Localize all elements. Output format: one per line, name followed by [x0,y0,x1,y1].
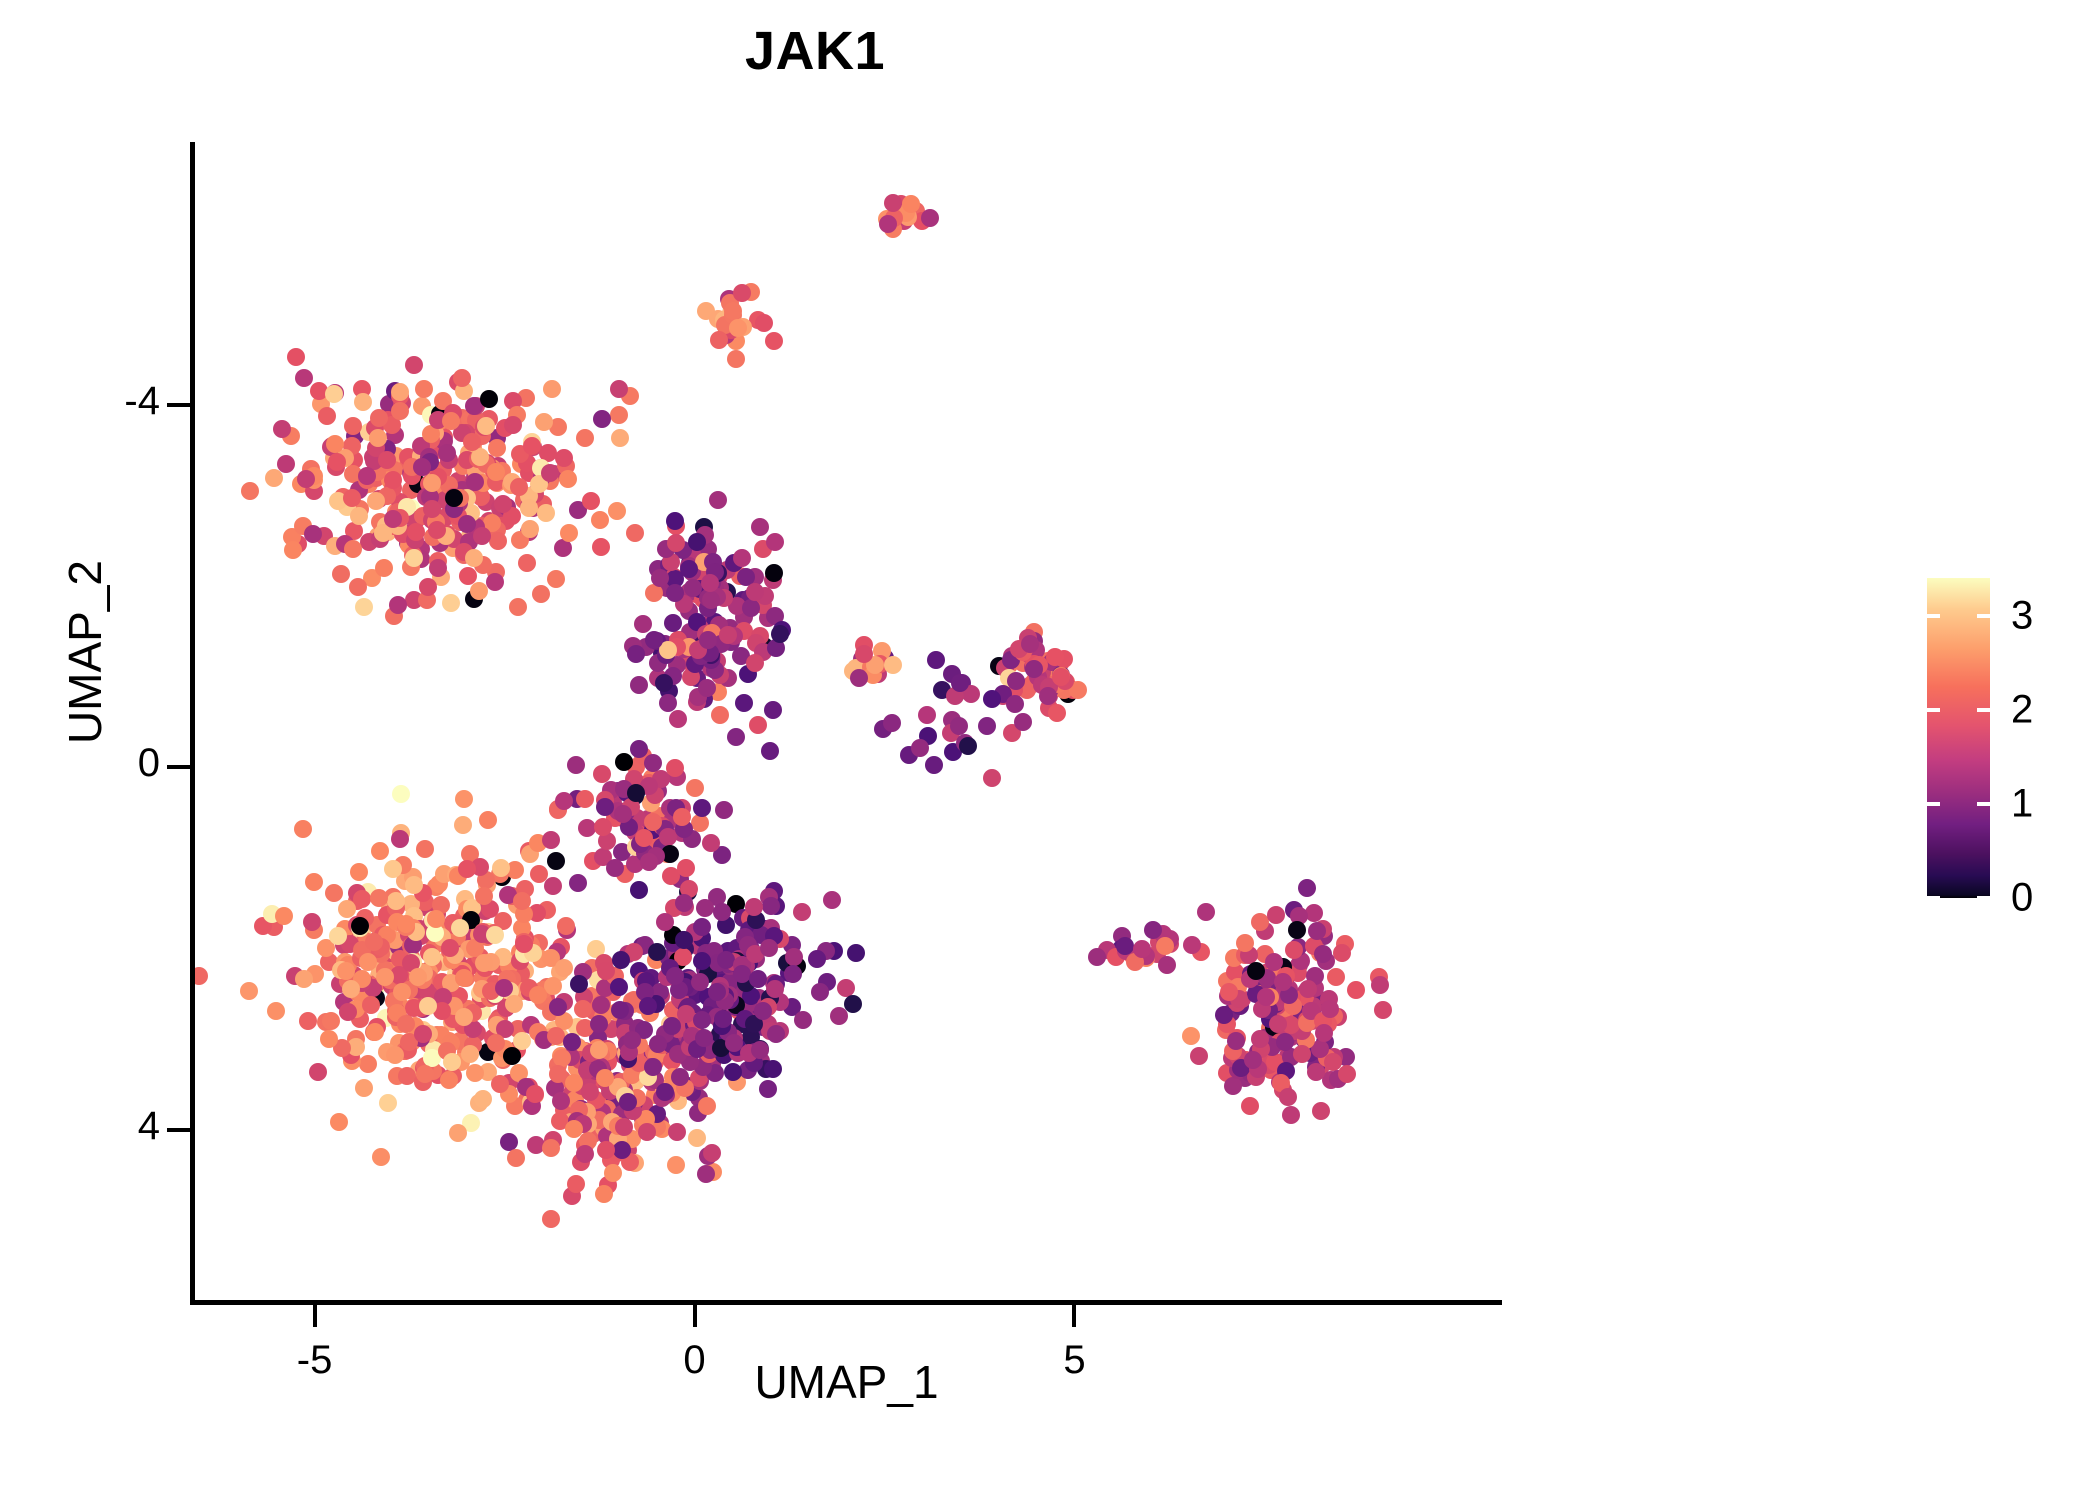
colorbar-tick-mark [1977,896,1990,900]
scatter-point [811,983,829,1001]
scatter-point [626,524,644,542]
scatter-point [699,631,717,649]
scatter-point [504,416,522,434]
scatter-point [711,706,729,724]
scatter-point [537,504,555,522]
scatter-point [771,625,789,643]
scatter-point [277,455,295,473]
scatter-point [567,756,585,774]
scatter-point [1241,1097,1259,1115]
scatter-point [793,903,811,921]
scatter-point [634,615,652,633]
scatter-point [489,532,507,550]
scatter-point [1338,1065,1356,1083]
scatter-point [549,1065,567,1083]
colorbar-tick-label: 2 [2011,687,2033,732]
scatter-point [884,656,902,674]
scatter-point [413,458,431,476]
x-tick-mark [1072,1303,1076,1327]
colorbar-gradient [1927,578,1990,898]
scatter-point [1244,1051,1262,1069]
scatter-point [767,1025,785,1043]
scatter-point [295,970,313,988]
scatter-point [677,859,695,877]
scatter-point [597,1141,615,1159]
scatter-point [1220,983,1238,1001]
scatter-point [359,953,377,971]
scatter-point [1282,1106,1300,1124]
scatter-point [698,1097,716,1115]
scatter-point [710,331,728,349]
scatter-point [441,939,459,957]
scatter-point [543,380,561,398]
scatter-point [1007,672,1025,690]
scatter-point [1279,1088,1297,1106]
scatter-point [365,933,383,951]
scatter-point [745,898,763,916]
scatter-point [442,412,460,430]
scatter-point [384,860,402,878]
scatter-point [486,926,504,944]
scatter-point [1299,980,1317,998]
scatter-point [455,790,473,808]
scatter-point [1276,1033,1294,1051]
scatter-point [766,533,784,551]
scatter-point [299,1012,317,1030]
scatter-point [761,742,779,760]
scatter-point [480,390,498,408]
scatter-point [471,448,489,466]
scatter-point [593,410,611,428]
scatter-point [597,962,615,980]
scatter-point [443,1053,461,1071]
scatter-point [667,1156,685,1174]
scatter-point [656,1083,674,1101]
scatter-point [518,554,536,572]
scatter-point [978,717,996,735]
scatter-point [1298,879,1316,897]
scatter-point [640,853,658,871]
scatter-point [405,356,423,374]
y-tick-label: 4 [60,1104,160,1149]
scatter-point [326,435,344,453]
scatter-point [344,417,362,435]
scatter-point [1088,948,1106,966]
scatter-point [1347,981,1365,999]
scatter-point [295,369,313,387]
x-axis-title: UMAP_1 [193,1355,1500,1409]
scatter-point [507,1149,525,1167]
scatter-point [565,1120,583,1138]
scatter-point [719,626,737,644]
scatter-point [509,598,527,616]
scatter-point [592,996,610,1014]
scatter-point [638,1123,656,1141]
scatter-point [837,979,855,997]
scatter-point [549,998,567,1016]
scatter-point [1374,1001,1392,1019]
scatter-point [608,502,626,520]
scatter-point [350,507,368,525]
scatter-point [666,512,684,530]
scatter-point [344,540,362,558]
scatter-point [733,965,751,983]
scatter-point [596,798,614,816]
scatter-point [423,474,441,492]
scatter-point [925,756,943,774]
colorbar-tick-mark [1977,708,1990,712]
scatter-point [591,511,609,529]
scatter-point [355,1079,373,1097]
scatter-point [267,1002,285,1020]
scatter-point [746,654,764,672]
scatter-point [844,995,862,1013]
scatter-point [440,1071,458,1089]
scatter-point [1048,704,1066,722]
scatter-point [667,534,685,552]
scatter-point [959,737,977,755]
scatter-point [473,527,491,545]
colorbar-tick-label: 0 [2011,876,2033,921]
scatter-point [697,1165,715,1183]
scatter-point [455,1008,473,1026]
scatter-point [488,439,506,457]
scatter-point [879,215,897,233]
scatter-point [362,996,380,1014]
scatter-point [630,676,648,694]
scatter-point [754,1002,772,1020]
scatter-point [391,830,409,848]
scatter-point [594,818,612,836]
scatter-point [474,1090,492,1108]
scatter-point [486,573,504,591]
scatter-point [427,910,445,928]
scatter-point [666,967,684,985]
scatter-point [1333,944,1351,962]
scatter-point [593,765,611,783]
scatter-point [555,792,573,810]
scatter-point [762,897,780,915]
scatter-point [428,521,446,539]
scatter-point [354,393,372,411]
scatter-point [656,913,674,931]
scatter-point [668,1123,686,1141]
scatter-point [275,907,293,925]
scatter-point [983,690,1001,708]
scatter-point [330,1113,348,1131]
scatter-point [733,284,751,302]
scatter-point [751,518,769,536]
colorbar-tick-mark [1977,802,1990,806]
scatter-point [808,950,826,968]
scatter-point [715,801,733,819]
scatter-point [655,674,673,692]
scatter-point [582,492,600,510]
scatter-point [645,631,663,649]
scatter-point [1046,648,1064,666]
scatter-point [703,1144,721,1162]
scatter-point [349,578,367,596]
scatter-point [1183,936,1201,954]
scatter-point [397,1015,415,1033]
scatter-point [454,816,472,834]
scatter-point [287,348,305,366]
scatter-point [325,385,343,403]
scatter-point [645,584,663,602]
scatter-point [1288,921,1306,939]
scatter-point [495,979,513,997]
scatter-point [648,943,666,961]
scatter-point [666,759,684,777]
scatter-point [702,591,720,609]
scatter-point [387,892,405,910]
scatter-point [547,570,565,588]
colorbar-legend: 0123 [1927,578,2097,898]
scatter-point [391,402,409,420]
scatter-point [709,491,727,509]
scatter-point [389,596,407,614]
scatter-point [688,1129,706,1147]
scatter-point [1116,937,1134,955]
scatter-point [630,881,648,899]
scatter-point [359,1055,377,1073]
scatter-point [613,1141,631,1159]
scatter-point [542,1210,560,1228]
scatter-point [1293,1045,1311,1063]
scatter-point [847,944,865,962]
scatter-point [592,538,610,556]
scatter-point [610,406,628,424]
scatter-point [567,1175,585,1193]
scatter-point [921,209,939,227]
scatter-point [702,834,720,852]
plot-panel [193,142,1500,1302]
scatter-point [708,983,726,1001]
scatter-point [615,1118,633,1136]
scatter-point [612,951,630,969]
colorbar-tick-mark [1927,708,1940,712]
scatter-point [455,969,473,987]
scatter-point [397,915,415,933]
scatter-point [370,409,388,427]
scatter-point [379,1094,397,1112]
scatter-point [693,1011,711,1029]
scatter-point [1236,934,1254,952]
scatter-point [765,332,783,350]
scatter-point [371,842,389,860]
scatter-point [569,874,587,892]
scatter-point [686,779,704,797]
scatter-point [405,876,423,894]
scatter-point [325,884,343,902]
scatter-point [1285,941,1303,959]
scatter-point [673,808,691,826]
scatter-point [530,865,548,883]
scatter-point [415,380,433,398]
scatter-point [576,1145,594,1163]
scatter-point [358,467,376,485]
scatter-point [1133,940,1151,958]
scatter-point [466,473,484,491]
scatter-point [487,463,505,481]
umap-feature-plot: JAK1 40-4-505 UMAP_1 UMAP_2 0123 [0,0,2100,1500]
scatter-point [714,1010,732,1028]
scatter-point [515,935,533,953]
scatter-point [503,1047,521,1065]
y-tick-mark [167,403,191,407]
scatter-point [563,1033,581,1051]
scatter-point [727,728,745,746]
scatter-point [794,1011,812,1029]
scatter-point [304,525,322,543]
scatter-point [470,582,488,600]
scatter-point [405,549,423,567]
scatter-point [419,578,437,596]
scatter-point [461,1045,479,1063]
scatter-point [759,1080,777,1098]
scatter-point [1312,1102,1330,1120]
scatter-point [570,975,588,993]
scatter-point [367,492,385,510]
scatter-point [560,524,578,542]
scatter-point [386,1046,404,1064]
scatter-point [555,449,573,467]
scatter-point [1190,1047,1208,1065]
scatter-point [240,982,258,1000]
scatter-point [1156,937,1174,955]
scatter-point [1267,906,1285,924]
scatter-point [727,350,745,368]
scatter-point [273,420,291,438]
scatter-point [578,819,596,837]
scatter-point [559,470,577,488]
scatter-point [760,939,778,957]
scatter-point [765,564,783,582]
scatter-point [590,1041,608,1059]
scatter-point [696,899,714,917]
scatter-point [355,598,373,616]
scatter-point [458,515,476,533]
scatter-point [241,482,259,500]
scatter-point [644,813,662,831]
scatter-point [724,1063,742,1081]
scatter-point [1215,1006,1233,1024]
scatter-point [1307,1063,1325,1081]
scatter-point [442,594,460,612]
scatter-point [438,444,456,462]
scatter-point [294,820,312,838]
scatter-point [850,669,868,687]
scatter-point [1039,687,1057,705]
scatter-point [595,1185,613,1203]
scatter-point [735,694,753,712]
scatter-point [398,1067,416,1085]
scatter-point [318,407,336,425]
scatter-point [1158,956,1176,974]
scatter-point [1224,1077,1242,1095]
scatter-point [392,785,410,803]
scatter-point [492,859,510,877]
scatter-point [532,585,550,603]
scatter-point [1247,962,1265,980]
scatter-point [372,1148,390,1166]
scatter-point [951,674,969,692]
scatter-point [911,739,929,757]
scatter-point [644,754,662,772]
scatter-point [1327,968,1345,986]
scatter-point [701,574,719,592]
scatter-point [855,645,873,663]
y-tick-mark [167,1128,191,1132]
scatter-point [983,769,1001,787]
scatter-point [409,968,427,986]
scatter-point [466,1064,484,1082]
scatter-point [458,860,476,878]
scatter-point [627,645,645,663]
scatter-point [544,877,562,895]
scatter-point [376,968,394,986]
scatter-point [1006,695,1024,713]
scatter-point [614,805,632,823]
colorbar-tick-mark [1927,802,1940,806]
scatter-point [724,302,742,320]
scatter-point [651,569,669,587]
scatter-point [542,1139,560,1157]
scatter-point [1227,1032,1245,1050]
scatter-point [350,863,368,881]
scatter-point [611,1001,629,1019]
scatter-point [320,1030,338,1048]
scatter-point [339,1003,357,1021]
scatter-point [950,717,968,735]
scatter-point [764,701,782,719]
scatter-point [749,716,767,734]
scatter-point [664,614,682,632]
scatter-point [193,967,208,985]
scatter-point [463,433,481,451]
scatter-point [684,579,702,597]
scatter-point [1251,1030,1269,1048]
scatter-point [576,790,594,808]
y-axis-title: UMAP_2 [58,352,112,952]
scatter-point [353,890,371,908]
colorbar-tick-label: 3 [2011,593,2033,638]
colorbar-tick-label: 1 [2011,781,2033,826]
scatter-point [604,1164,622,1182]
scatter-point [755,314,773,332]
scatter-point [1197,903,1215,921]
scatter-point [542,831,560,849]
scatter-point [751,1041,769,1059]
colorbar-tick-mark [1927,896,1940,900]
scatter-point [305,873,323,891]
x-axis-line [190,1300,1502,1305]
scatter-point [479,811,497,829]
scatter-point [644,1058,662,1076]
scatter-point [414,1025,432,1043]
scatter-point [1274,973,1292,991]
colorbar-tick-mark [1927,614,1940,618]
scatter-point [297,470,315,488]
scatter-point [375,559,393,577]
scatter-point [742,599,760,617]
scatter-point [407,523,425,541]
scatter-point [785,948,803,966]
scatter-point [663,1017,681,1035]
scatter-point [1182,1027,1200,1045]
scatter-point [505,995,523,1013]
scatter-point [883,714,901,732]
